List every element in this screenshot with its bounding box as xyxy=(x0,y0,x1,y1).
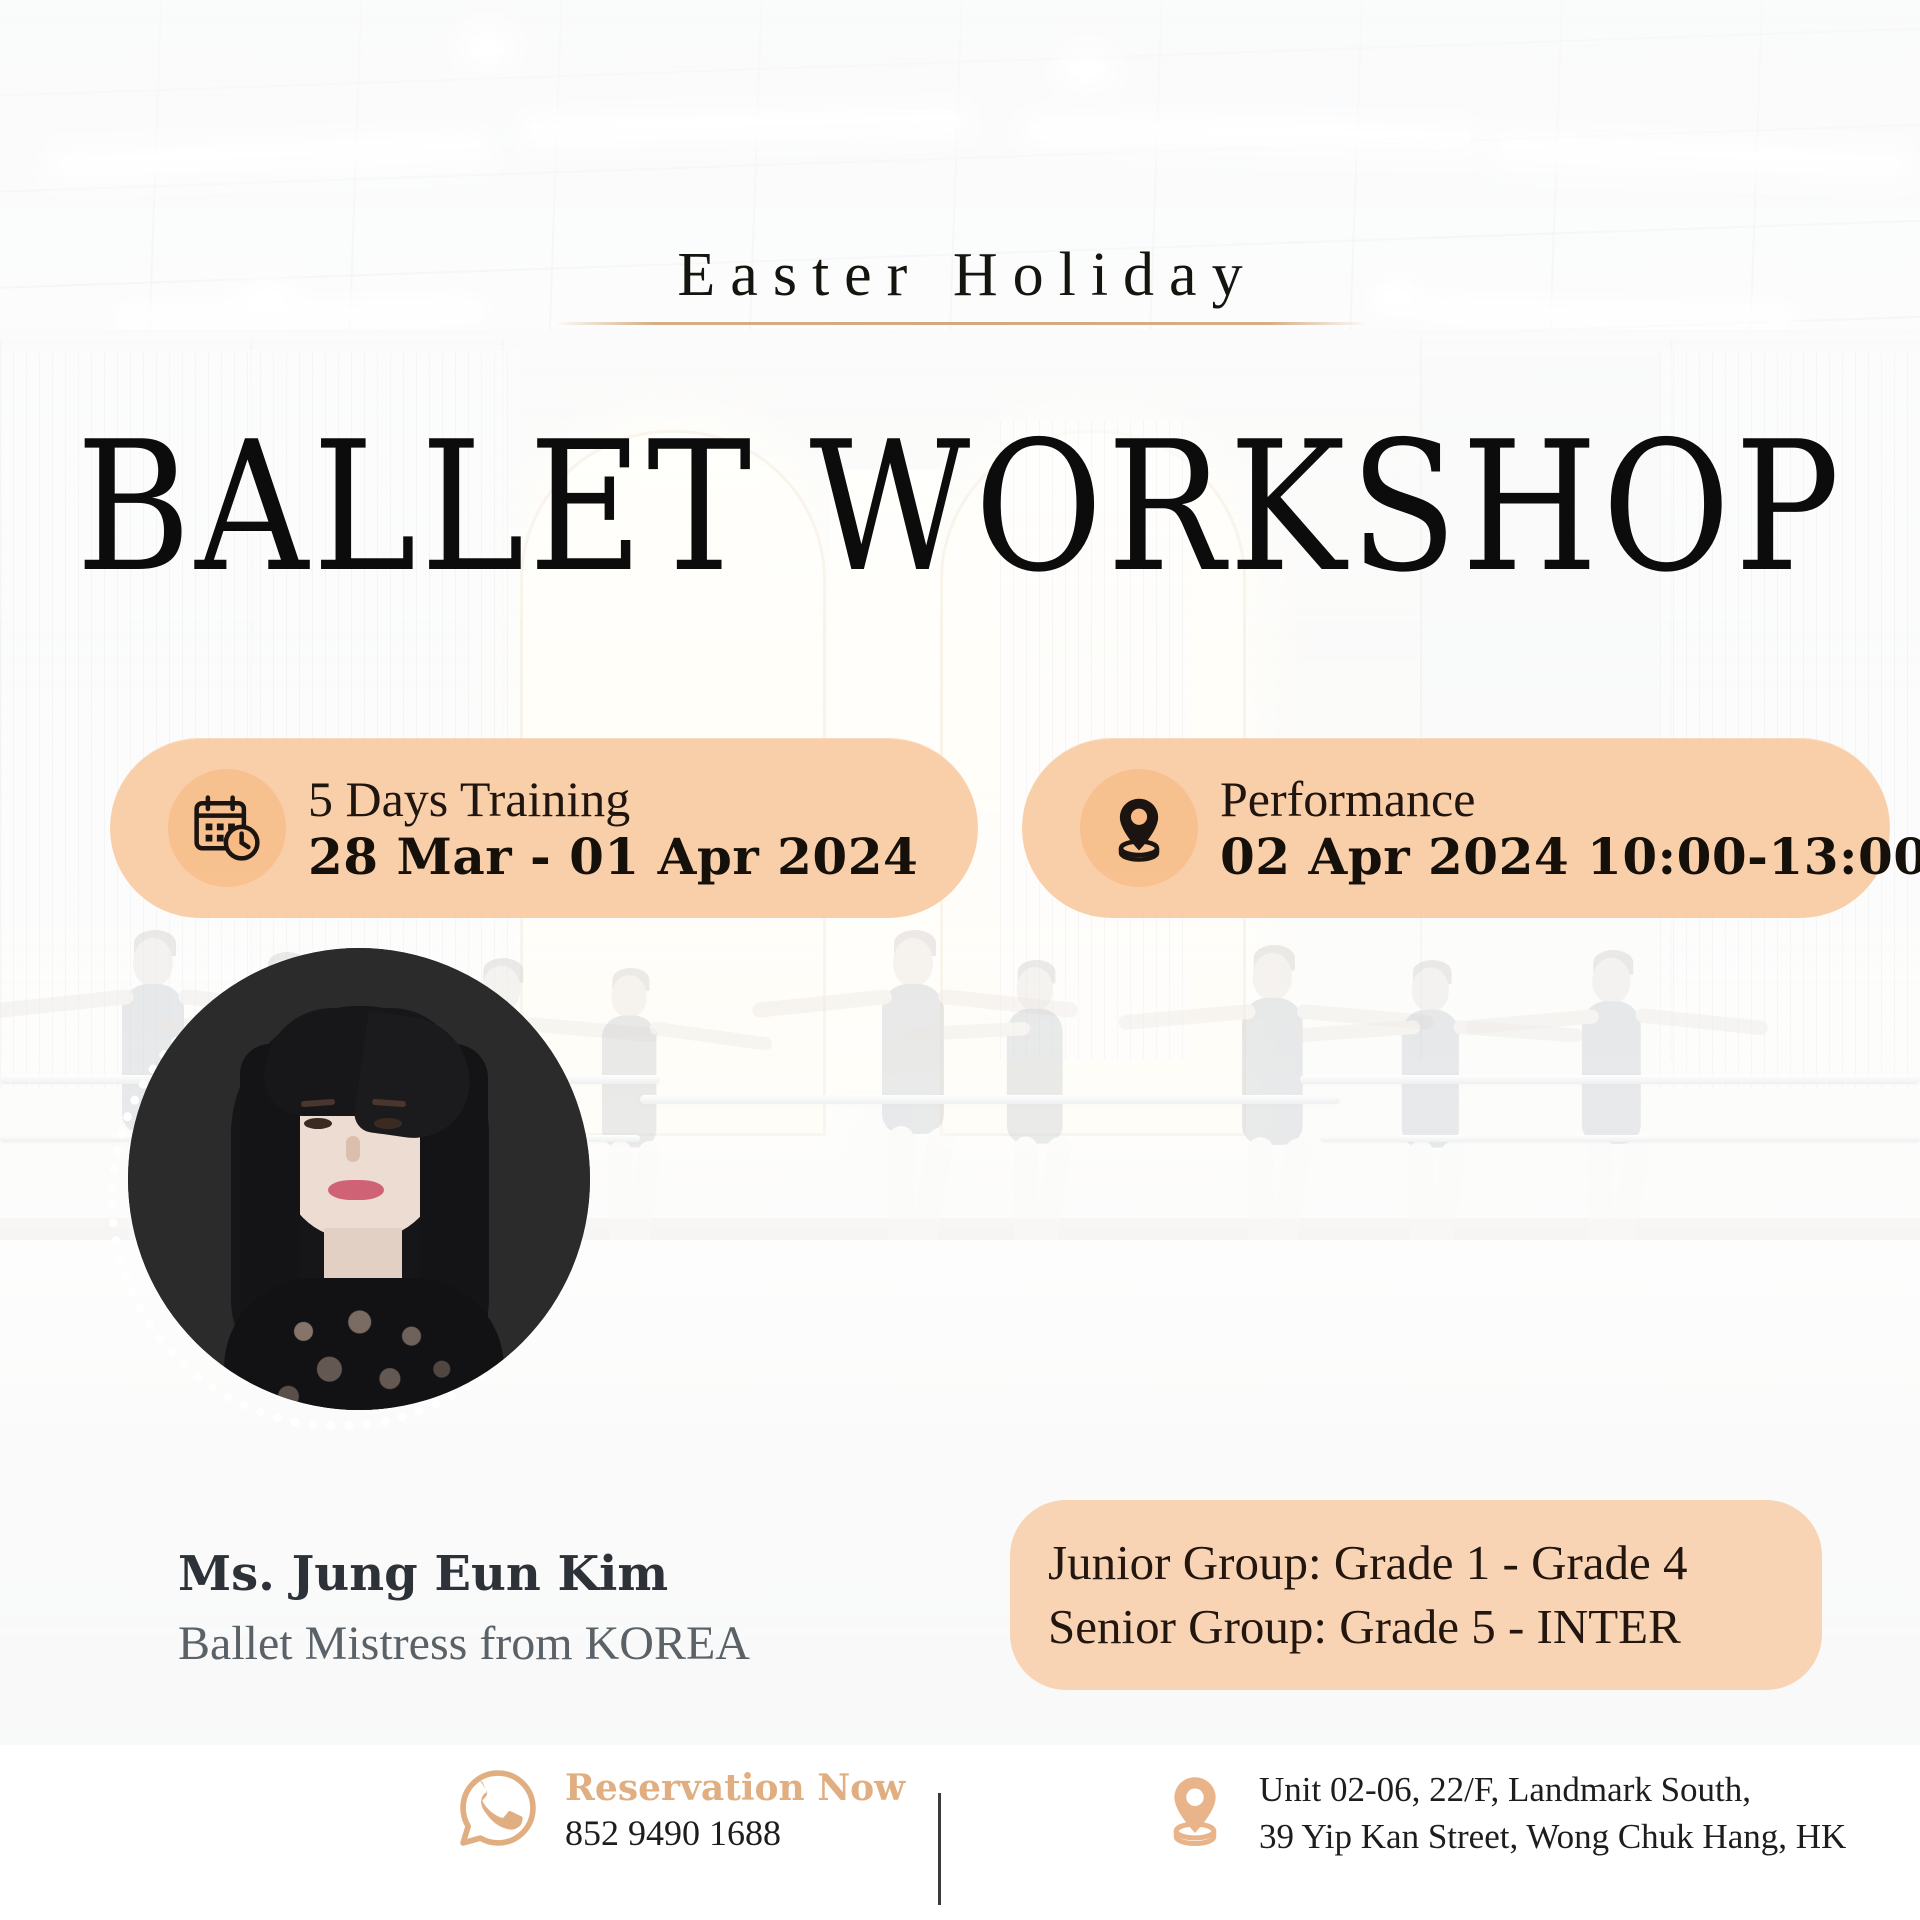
senior-group-text: Senior Group: Grade 5 - INTER xyxy=(1048,1595,1822,1659)
header-divider-rule xyxy=(556,322,1366,325)
address-line-2: 39 Yip Kan Street, Wong Chuk Hang, HK xyxy=(1259,1814,1846,1861)
footer: Reservation Now 852 9490 1688 Unit 02-06… xyxy=(0,1745,1920,1920)
junior-group-text: Junior Group: Grade 1 - Grade 4 xyxy=(1048,1531,1822,1595)
instructor-role: Ballet Mistress from KOREA xyxy=(178,1616,750,1671)
reservation-phone[interactable]: 852 9490 1688 xyxy=(565,1811,905,1856)
address-block[interactable]: Unit 02-06, 22/F, Landmark South, 39 Yip… xyxy=(1155,1767,1846,1860)
avatar xyxy=(128,948,590,1410)
info-pill-label: Performance xyxy=(1220,771,1920,828)
reservation-contact[interactable]: Reservation Now 852 9490 1688 xyxy=(455,1765,905,1856)
info-pill-value: 28 Mar - 01 Apr 2024 xyxy=(308,828,918,885)
info-pill-performance[interactable]: Performance 02 Apr 2024 10:00-13:00 xyxy=(1022,738,1890,918)
info-pill-training[interactable]: 5 Days Training 28 Mar - 01 Apr 2024 xyxy=(110,738,978,918)
eyebrow-title: Easter Holiday xyxy=(0,240,1920,311)
page-title: BALLET WORKSHOP xyxy=(0,418,1920,597)
info-pill-label: 5 Days Training xyxy=(308,771,918,828)
ballet-workshop-poster: Easter Holiday BALLET WORKSHOP 5 Days Tr… xyxy=(0,0,1920,1920)
location-pin-icon xyxy=(1080,769,1198,887)
calendar-clock-icon xyxy=(168,769,286,887)
info-pill-text: Performance 02 Apr 2024 10:00-13:00 xyxy=(1220,771,1920,885)
reservation-heading: Reservation Now xyxy=(565,1766,905,1811)
address-text: Unit 02-06, 22/F, Landmark South, 39 Yip… xyxy=(1259,1767,1846,1860)
groups-pill: Junior Group: Grade 1 - Grade 4 Senior G… xyxy=(1010,1500,1822,1690)
footer-divider xyxy=(938,1793,941,1905)
address-line-1: Unit 02-06, 22/F, Landmark South, xyxy=(1259,1767,1846,1814)
info-pill-text: 5 Days Training 28 Mar - 01 Apr 2024 xyxy=(308,771,918,885)
whatsapp-phone-icon xyxy=(455,1765,541,1856)
reservation-text: Reservation Now 852 9490 1688 xyxy=(565,1766,905,1856)
info-pill-value: 02 Apr 2024 10:00-13:00 xyxy=(1220,828,1920,885)
instructor-name: Ms. Jung Eun Kim xyxy=(178,1546,668,1602)
location-pin-icon xyxy=(1155,1771,1235,1856)
